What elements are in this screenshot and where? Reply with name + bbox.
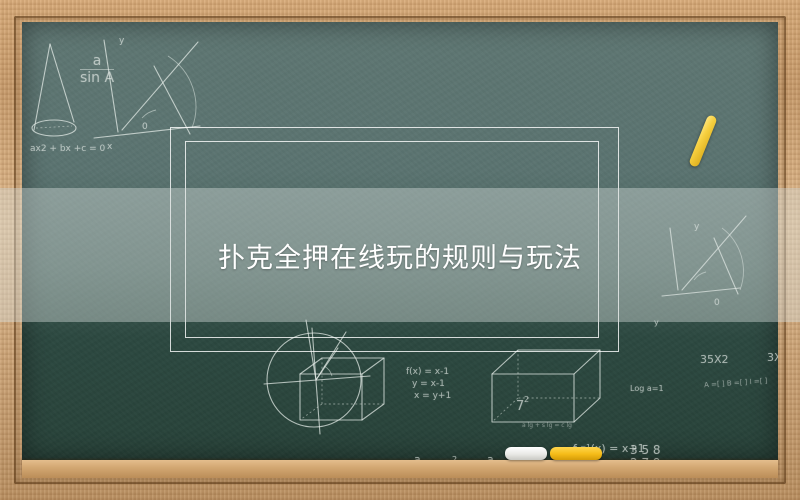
angle-label-left: 0 — [142, 122, 148, 132]
page-title: 扑克全押在线玩的规则与玩法 — [218, 236, 582, 275]
cone-diagram — [32, 44, 76, 136]
log-rule-note: a lg + s lg = c lg — [522, 422, 572, 429]
cube-diagram-right — [492, 350, 600, 422]
logarithm-note: Log a=1 — [630, 384, 664, 393]
multiplication-35x2: 35X2 — [700, 353, 729, 366]
chalk-ledge — [22, 460, 778, 478]
axis-label-x-left: x — [107, 142, 112, 152]
ledge-yellow-chalk — [550, 447, 602, 460]
law-of-sines-formula-1: a sin A — [80, 54, 114, 85]
quadratic-equation: ax2 + bx +c = 0 — [30, 144, 105, 154]
equation-x: x = y+1 — [414, 391, 451, 401]
fraction-numerator: a — [80, 54, 114, 69]
multiplication-3x2: 3X2 — [767, 351, 778, 364]
subtraction-problem: 3 5 8 2 7 9 6 3 7 — [630, 444, 661, 460]
cube-diagram-center — [300, 358, 384, 420]
title-container: 扑克全押在线玩的规则与玩法 — [0, 188, 800, 322]
equation-y: y = x-1 — [412, 379, 445, 389]
ledge-white-chalk — [505, 447, 547, 460]
function-fx: f(x) = x-1 — [406, 367, 449, 377]
seven-exponent: 2 — [524, 395, 529, 404]
chalkboard-banner: a sin A ax2 + bx +c = 0 y x 0 y 0 f(x) =… — [0, 0, 800, 500]
axis-label-y-left: y — [119, 36, 124, 46]
fraction-denominator: sin A — [80, 69, 114, 86]
